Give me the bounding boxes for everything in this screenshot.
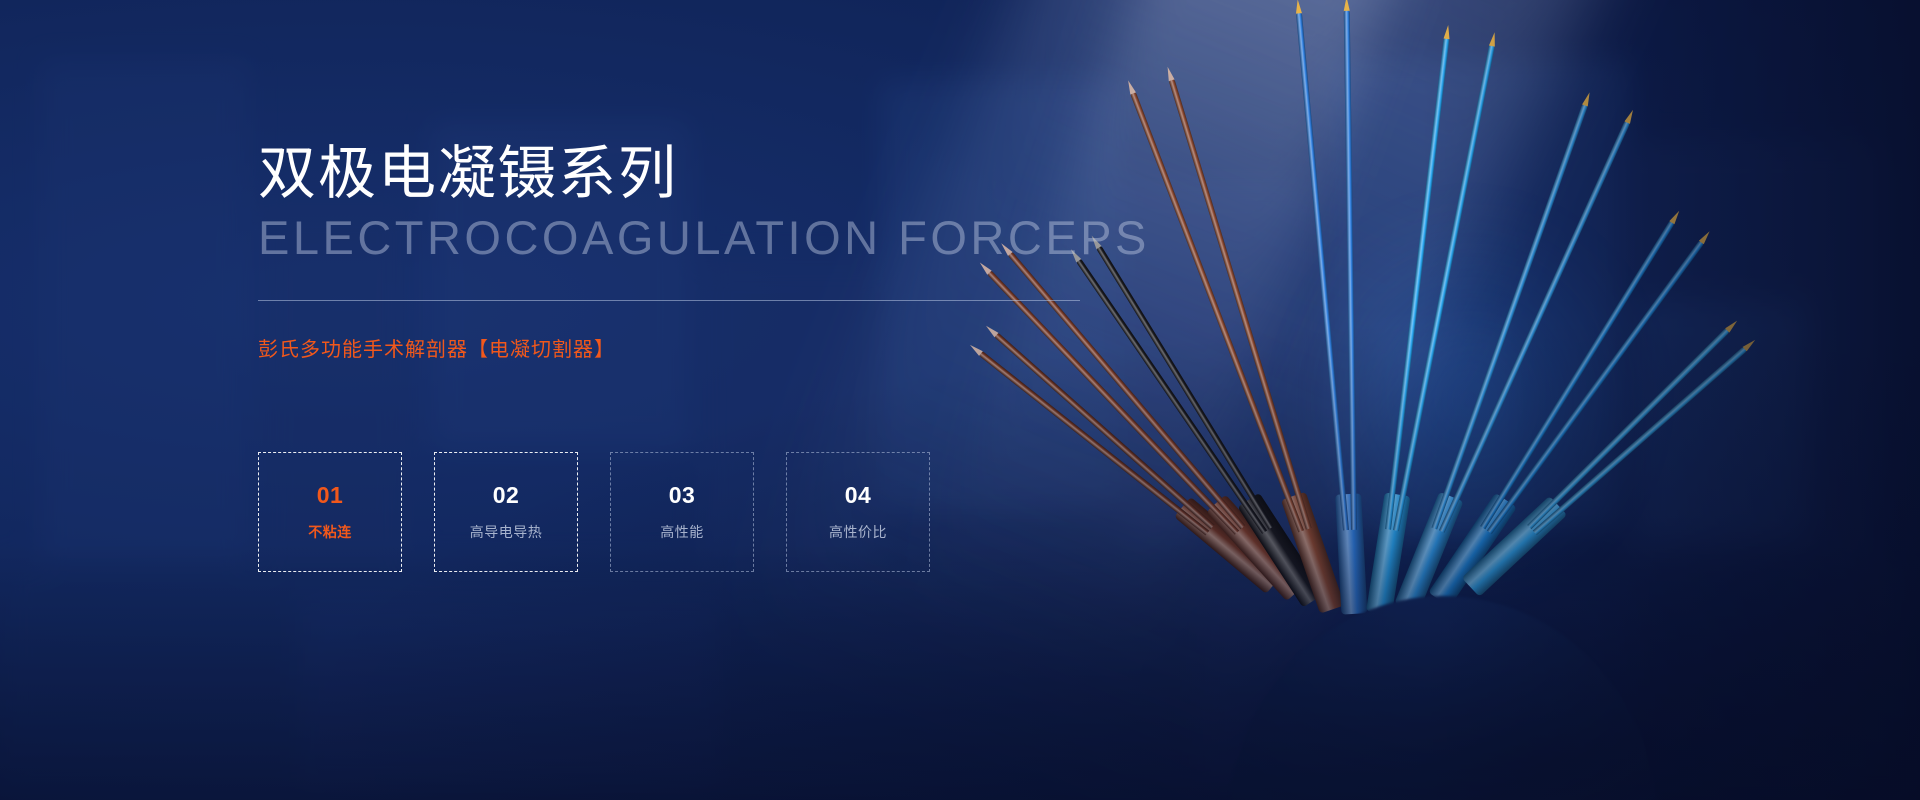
forceps-gold-tip-icon <box>1295 0 1302 14</box>
forceps-gold-tip-icon <box>1725 318 1739 332</box>
page-title-en: ELECTROCOAGULATION FORCEPS <box>258 212 1150 264</box>
feature-label: 高性价比 <box>829 522 887 542</box>
forceps-arm <box>1527 328 1730 530</box>
forceps-handle <box>1366 492 1410 615</box>
forceps-arm <box>1393 44 1495 531</box>
forceps-handle <box>1281 492 1345 614</box>
forceps-handle <box>1428 493 1517 607</box>
title-divider <box>258 300 1080 301</box>
forceps-gold-tip-icon <box>1699 229 1712 244</box>
forceps-arm <box>1296 12 1349 530</box>
forceps-base-mound <box>1228 596 1658 800</box>
forceps-gold-tip-icon <box>1444 25 1452 40</box>
feature-label: 高导电导热 <box>470 522 543 542</box>
forceps-handle <box>1335 493 1367 614</box>
feature-number: 03 <box>669 482 696 509</box>
feature-box-03[interactable]: 03高性能 <box>610 452 754 572</box>
forceps-arm <box>1168 78 1311 529</box>
forceps-gold-tip-icon <box>1165 66 1175 81</box>
forceps-arm <box>1480 220 1675 529</box>
product-subtitle: 彭氏多功能手术解剖器【电凝切割器】 <box>258 333 615 362</box>
forceps-handle <box>1462 496 1567 597</box>
forceps-gold-tip-icon <box>1344 0 1350 11</box>
forceps-arm <box>1533 346 1748 535</box>
feature-box-02[interactable]: 02高导电导热 <box>434 452 578 572</box>
forceps-handle <box>1174 497 1283 594</box>
forceps-handle <box>1394 492 1463 613</box>
forceps-handle <box>1206 495 1306 602</box>
forceps-glow <box>1210 120 1730 680</box>
forceps-arm <box>1385 38 1450 530</box>
product-banner: 双极电凝镊系列 ELECTROCOAGULATION FORCEPS 彭氏多功能… <box>0 0 1920 800</box>
forceps-handle <box>1237 493 1324 608</box>
feature-label: 不粘连 <box>308 522 352 542</box>
forceps-gold-tip-icon <box>1582 91 1592 106</box>
forceps-arm <box>1487 240 1704 534</box>
feature-number: 01 <box>317 482 344 509</box>
feature-list: 01不粘连02高导电导热03高性能04高性价比 <box>258 452 962 572</box>
forceps-gold-tip-icon <box>1669 209 1681 224</box>
forceps-arm <box>1344 10 1357 530</box>
feature-box-01[interactable]: 01不粘连 <box>258 452 402 572</box>
forceps-arm <box>1431 104 1588 530</box>
forceps-gold-tip-icon <box>1489 32 1498 47</box>
forceps-arm <box>1439 120 1630 532</box>
forceps-artwork <box>1060 0 1920 800</box>
feature-box-04[interactable]: 04高性价比 <box>786 452 930 572</box>
page-title-cn: 双极电凝镊系列 <box>258 142 678 206</box>
feature-number: 02 <box>493 482 520 509</box>
forceps-fan <box>1060 0 1920 800</box>
banner-content: 双极电凝镊系列 ELECTROCOAGULATION FORCEPS 彭氏多功能… <box>258 0 1158 800</box>
forceps-gold-tip-icon <box>1624 109 1635 124</box>
feature-number: 04 <box>845 482 872 509</box>
feature-label: 高性能 <box>660 522 704 542</box>
forceps-gold-tip-icon <box>1743 338 1757 352</box>
